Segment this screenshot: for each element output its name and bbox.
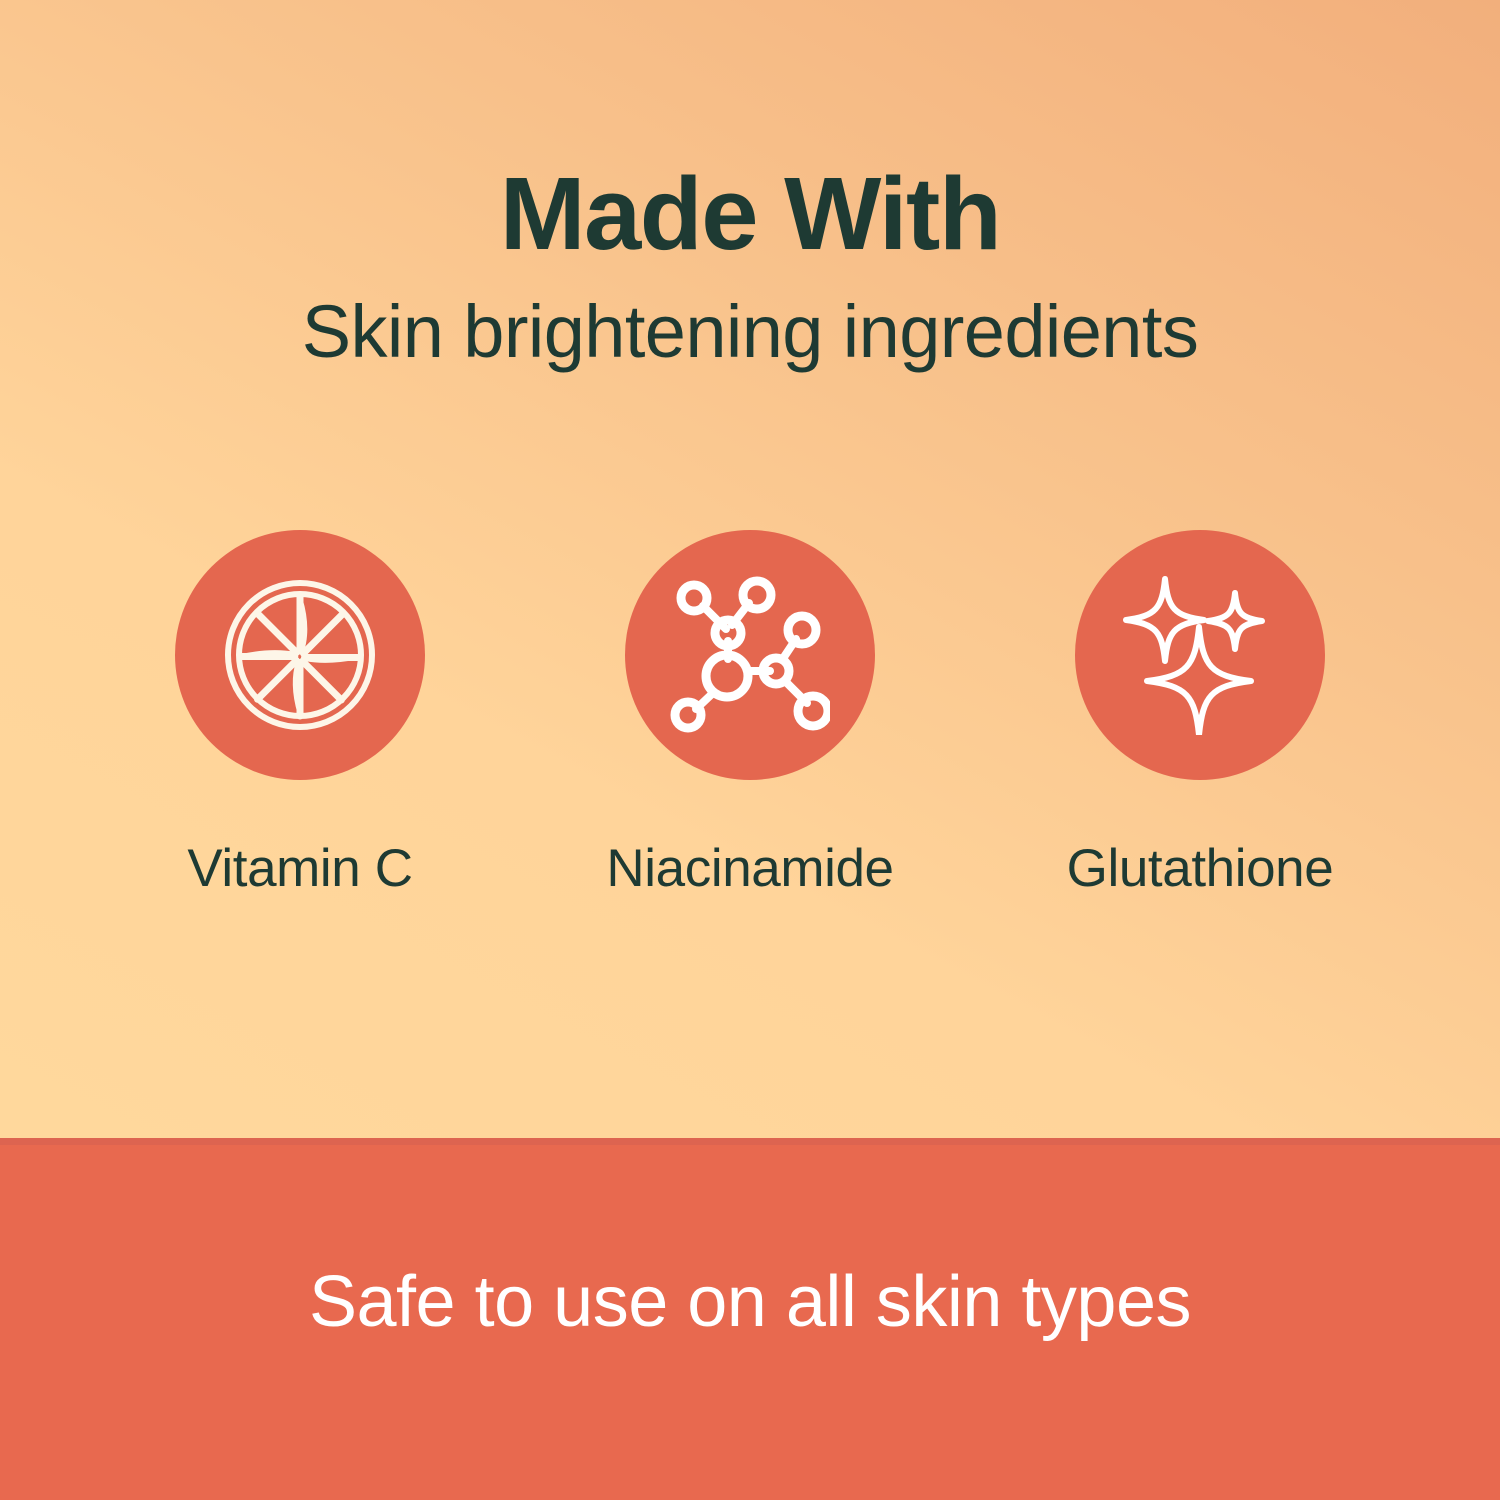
page-subtitle: Skin brightening ingredients [0, 293, 1500, 371]
bottom-banner: Safe to use on all skin types [0, 1138, 1500, 1500]
ingredient-label: Vitamin C [187, 838, 412, 899]
ingredient-badge-niacinamide [625, 530, 875, 780]
heading-block: Made With Skin brightening ingredients [0, 160, 1500, 371]
ingredient-item-glutathione: Glutathione [1073, 530, 1328, 899]
ingredient-label: Niacinamide [606, 838, 893, 899]
ingredient-list: Vitamin C [0, 530, 1500, 899]
sparkles-icon [1120, 575, 1280, 735]
ingredient-item-vitamin-c: Vitamin C [173, 530, 428, 899]
banner-text: Safe to use on all skin types [309, 1261, 1191, 1343]
ingredient-badge-glutathione [1075, 530, 1325, 780]
ingredient-badge-vitamin-c [175, 530, 425, 780]
page-title: Made With [0, 160, 1500, 267]
banner-text-wrapper: Safe to use on all skin types [0, 1138, 1500, 1500]
made-with-infographic: Made With Skin brightening ingredients [0, 0, 1500, 1500]
ingredient-label: Glutathione [1067, 838, 1334, 899]
ingredient-item-niacinamide: Niacinamide [623, 530, 878, 899]
molecule-icon [670, 575, 830, 735]
citrus-slice-icon [220, 575, 380, 735]
